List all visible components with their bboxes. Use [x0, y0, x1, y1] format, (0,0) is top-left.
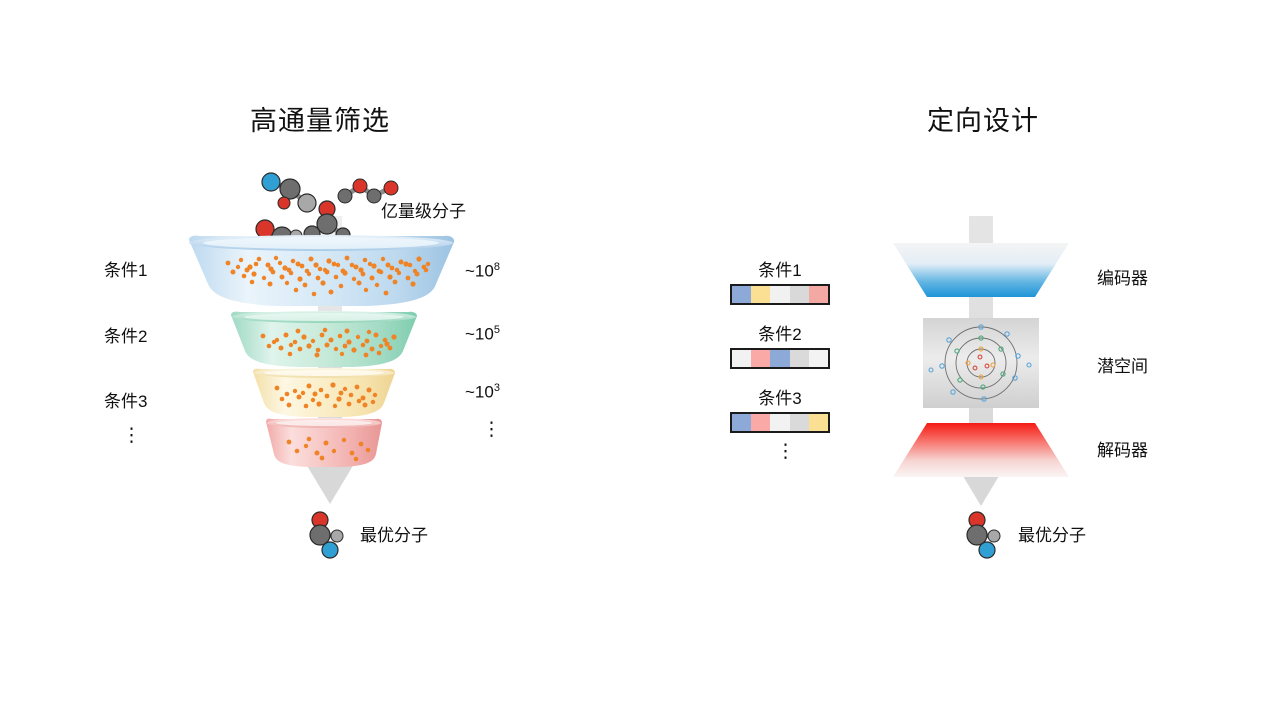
condition-caption-2: 条件2	[730, 320, 830, 345]
condition-block-1: 条件1	[730, 256, 830, 305]
stage-label-2: 条件2	[104, 322, 147, 347]
condition-1-swatch-4	[790, 286, 809, 303]
latent-space-label: 潜空间	[1097, 352, 1148, 377]
condition-3-swatch-2	[751, 414, 770, 431]
left-panel-title: 高通量筛选	[250, 99, 390, 138]
condition-3-swatch-3	[770, 414, 789, 431]
condition-1-swatch-2	[751, 286, 770, 303]
bowl-condition-1	[186, 234, 458, 314]
condition-2-swatch-2	[751, 350, 770, 367]
condition-bar-1[interactable]	[730, 284, 830, 305]
stage-count-1-exponent: 8	[494, 261, 500, 273]
stage-label-1: 条件1	[104, 256, 147, 281]
stage-count-2-exponent: 5	[494, 324, 500, 336]
condition-2-swatch-4	[790, 350, 809, 367]
stage-label-3: 条件3	[104, 387, 147, 412]
condition-2-swatch-3	[770, 350, 789, 367]
bowl-condition-4	[264, 417, 384, 469]
stage-count-3-exponent: 3	[494, 382, 500, 394]
input-molecules-label: 亿量级分子	[381, 197, 466, 222]
bowl-condition-2	[229, 310, 419, 372]
molecule-output-right	[955, 508, 1007, 560]
condition-ellipsis: ⋮	[776, 450, 795, 454]
condition-2-swatch-5	[809, 350, 828, 367]
condition-3-swatch-5	[809, 414, 828, 431]
stage-count-ellipsis: ⋮	[482, 428, 501, 432]
stage-count-2-prefix: ~10	[465, 325, 494, 344]
stage-count-3: ~103	[465, 382, 500, 403]
decoder-block	[893, 423, 1069, 479]
right-panel-title: 定向设计	[927, 99, 1039, 138]
condition-3-swatch-4	[790, 414, 809, 431]
condition-1-swatch-3	[770, 286, 789, 303]
stage-count-2: ~105	[465, 324, 500, 345]
decoder-label: 解码器	[1097, 436, 1148, 461]
condition-1-swatch-5	[809, 286, 828, 303]
condition-bar-2[interactable]	[730, 348, 830, 369]
condition-caption-3: 条件3	[730, 384, 830, 409]
condition-bar-3[interactable]	[730, 412, 830, 433]
condition-caption-1: 条件1	[730, 256, 830, 281]
encoder-block	[893, 243, 1069, 299]
stage-count-3-prefix: ~10	[465, 383, 494, 402]
stage-count-1-prefix: ~10	[465, 262, 494, 281]
encoder-label: 编码器	[1097, 264, 1148, 289]
condition-block-3: 条件3	[730, 384, 830, 433]
condition-2-swatch-1	[732, 350, 751, 367]
bowl-condition-3	[251, 367, 397, 421]
molecule-output-left	[298, 508, 350, 560]
condition-1-swatch-1	[732, 286, 751, 303]
stage-label-ellipsis: ⋮	[122, 434, 141, 438]
output-molecule-label-left: 最优分子	[360, 521, 428, 546]
condition-block-2: 条件2	[730, 320, 830, 369]
latent-space-block	[923, 318, 1039, 408]
diagram-canvas: 高通量筛选	[0, 0, 1268, 714]
output-molecule-label-right: 最优分子	[1018, 521, 1086, 546]
condition-3-swatch-1	[732, 414, 751, 431]
stage-count-1: ~108	[465, 261, 500, 282]
